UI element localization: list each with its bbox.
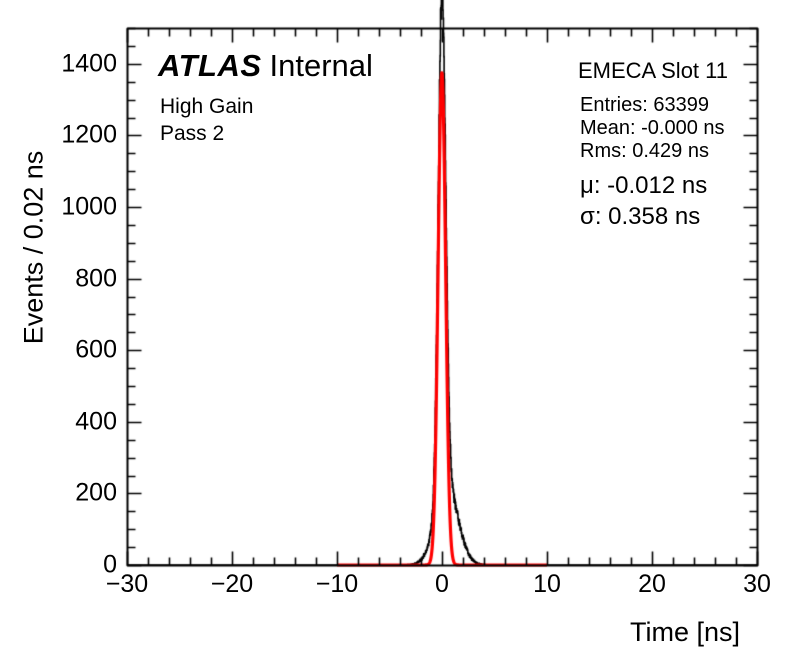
y-tick-label: 600 [0, 336, 117, 365]
atlas-label: ATLASInternal [158, 48, 373, 84]
atlas-bold-text: ATLAS [158, 48, 270, 83]
x-tick-label: −20 [211, 570, 253, 599]
fit-results-box: μ: -0.012 ns σ: 0.358 ns [580, 170, 707, 232]
statistics-box: Entries: 63399 Mean: -0.000 ns Rms: 0.42… [580, 94, 725, 163]
mean-text: Mean: -0.000 ns [580, 117, 725, 140]
x-tick-label: −30 [106, 570, 148, 599]
pass-label: Pass 2 [160, 122, 224, 146]
x-tick-label: 20 [638, 570, 666, 599]
entries-text: Entries: 63399 [580, 94, 725, 117]
x-tick-label: 0 [435, 570, 449, 599]
gain-label: High Gain [160, 95, 253, 119]
y-tick-label: 1400 [0, 49, 117, 78]
y-tick-label: 800 [0, 264, 117, 293]
detector-region-label: EMECA Slot 11 [578, 58, 728, 84]
x-tick-label: 30 [743, 570, 771, 599]
x-tick-label: −10 [316, 570, 358, 599]
fit-sigma-text: σ: 0.358 ns [580, 201, 707, 232]
rms-text: Rms: 0.429 ns [580, 140, 725, 163]
y-tick-label: 1000 [0, 193, 117, 222]
fit-mu-text: μ: -0.012 ns [580, 170, 707, 201]
x-axis-title: Time [ns] [630, 617, 740, 648]
x-tick-label: 10 [533, 570, 561, 599]
y-tick-label: 0 [0, 551, 117, 580]
y-tick-label: 1200 [0, 121, 117, 150]
y-tick-label: 400 [0, 407, 117, 436]
y-tick-label: 200 [0, 479, 117, 508]
atlas-status-text: Internal [270, 48, 373, 83]
